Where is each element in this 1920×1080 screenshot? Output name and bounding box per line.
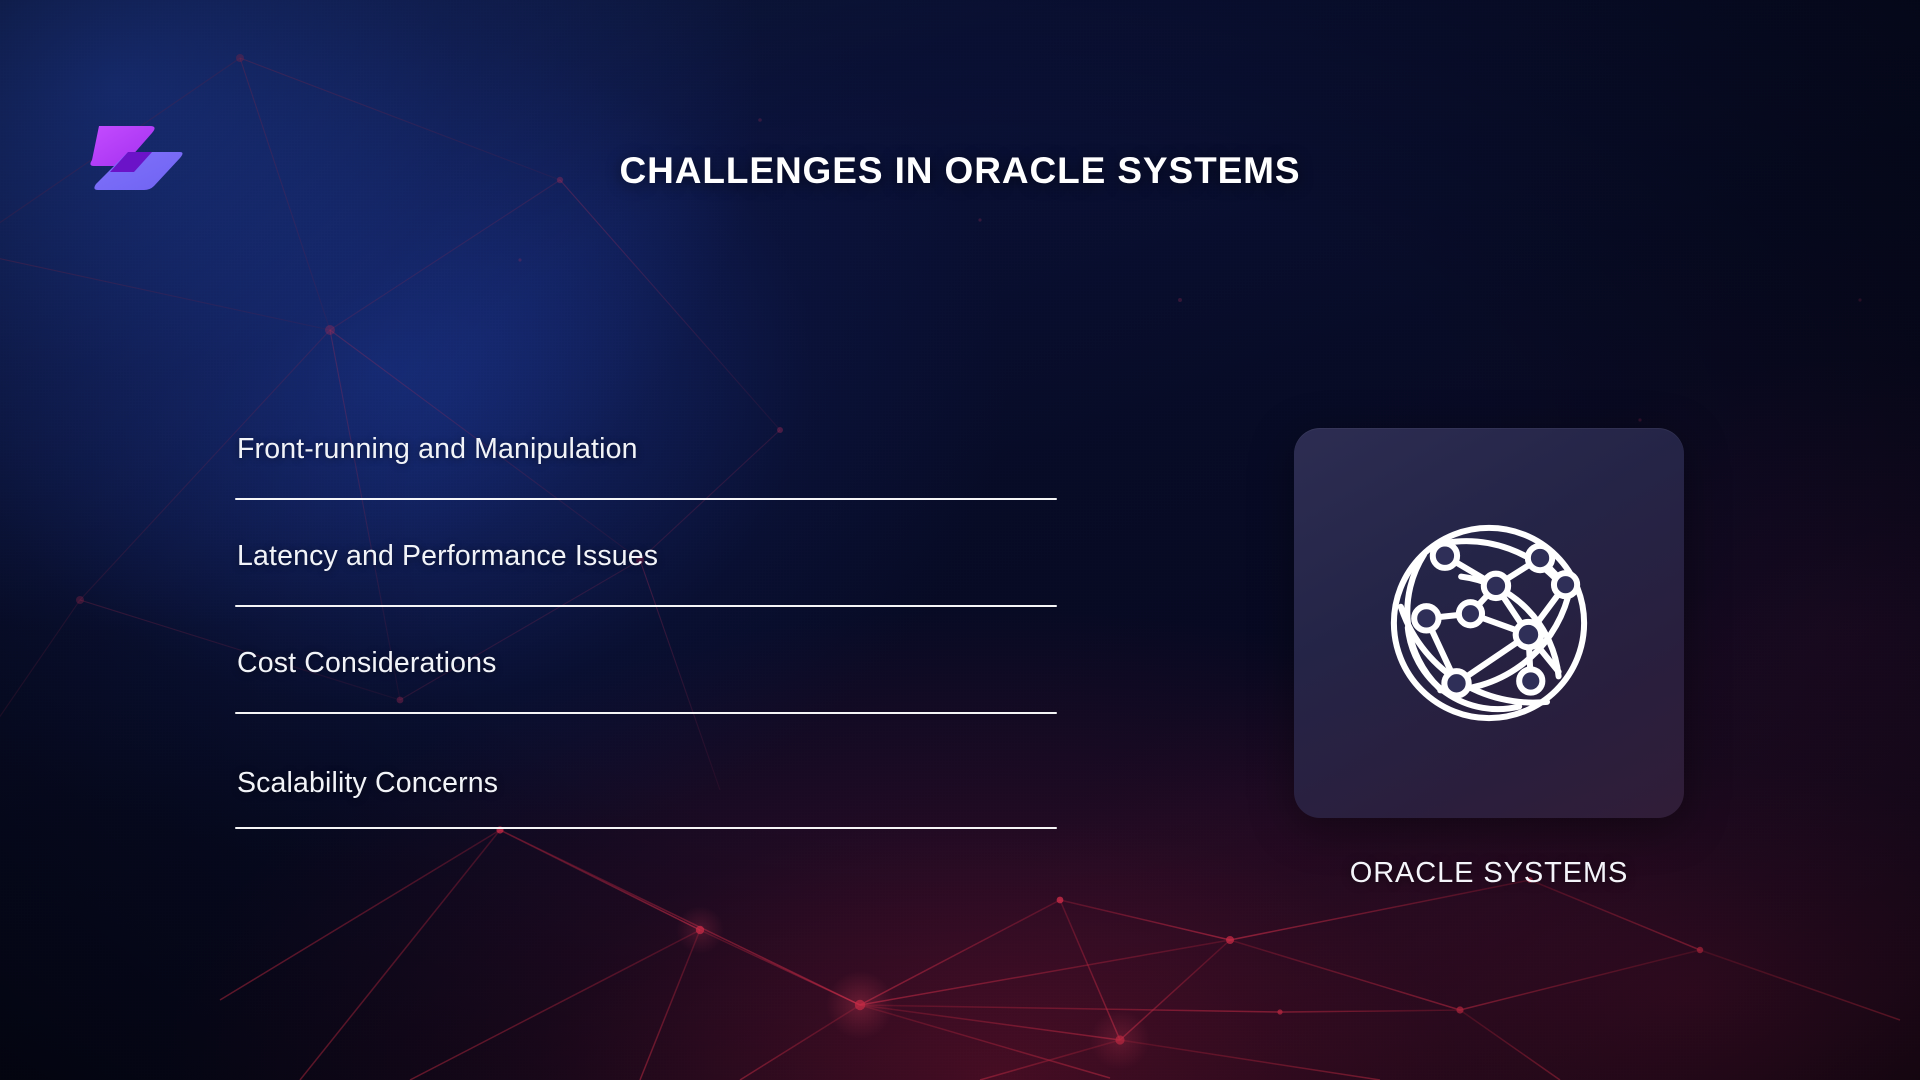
network-globe-icon	[1373, 507, 1605, 739]
list-item-label: Latency and Performance Issues	[235, 519, 1057, 571]
slide-root: CHALLENGES IN ORACLE SYSTEMS Front-runni…	[0, 0, 1920, 1080]
list-item-divider	[235, 712, 1057, 714]
page-title: CHALLENGES IN ORACLE SYSTEMS	[0, 150, 1920, 192]
list-item-label: Front-running and Manipulation	[235, 412, 1057, 464]
card-surface	[1294, 428, 1684, 818]
challenges-list: Front-running and Manipulation Latency a…	[235, 412, 1057, 840]
list-item-divider	[235, 605, 1057, 607]
list-item[interactable]: Cost Considerations	[235, 626, 1057, 733]
oracle-systems-card[interactable]: ORACLE SYSTEMS	[1294, 428, 1684, 890]
list-item[interactable]: Latency and Performance Issues	[235, 519, 1057, 626]
list-item-divider	[235, 827, 1057, 829]
list-item-label: Scalability Concerns	[235, 733, 1057, 798]
list-item[interactable]: Front-running and Manipulation	[235, 412, 1057, 519]
card-label: ORACLE SYSTEMS	[1294, 857, 1684, 890]
list-item[interactable]: Scalability Concerns	[235, 733, 1057, 840]
list-item-label: Cost Considerations	[235, 626, 1057, 678]
list-item-divider	[235, 498, 1057, 500]
